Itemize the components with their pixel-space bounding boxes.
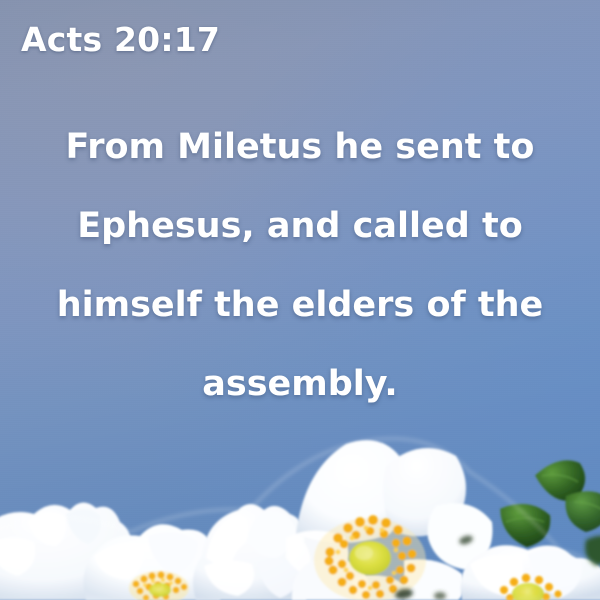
verse-line-3: himself the elders of the bbox=[38, 266, 562, 345]
verse-text-block: From Miletus he sent to Ephesus, and cal… bbox=[0, 108, 600, 424]
scripture-image-canvas: Acts 20:17 From Miletus he sent to Ephes… bbox=[0, 0, 600, 600]
verse-line-2: Ephesus, and called to bbox=[38, 187, 562, 266]
scripture-reference: Acts 20:17 bbox=[21, 20, 220, 59]
verse-line-1: From Miletus he sent to bbox=[38, 108, 562, 187]
verse-line-4: assembly. bbox=[38, 345, 562, 424]
